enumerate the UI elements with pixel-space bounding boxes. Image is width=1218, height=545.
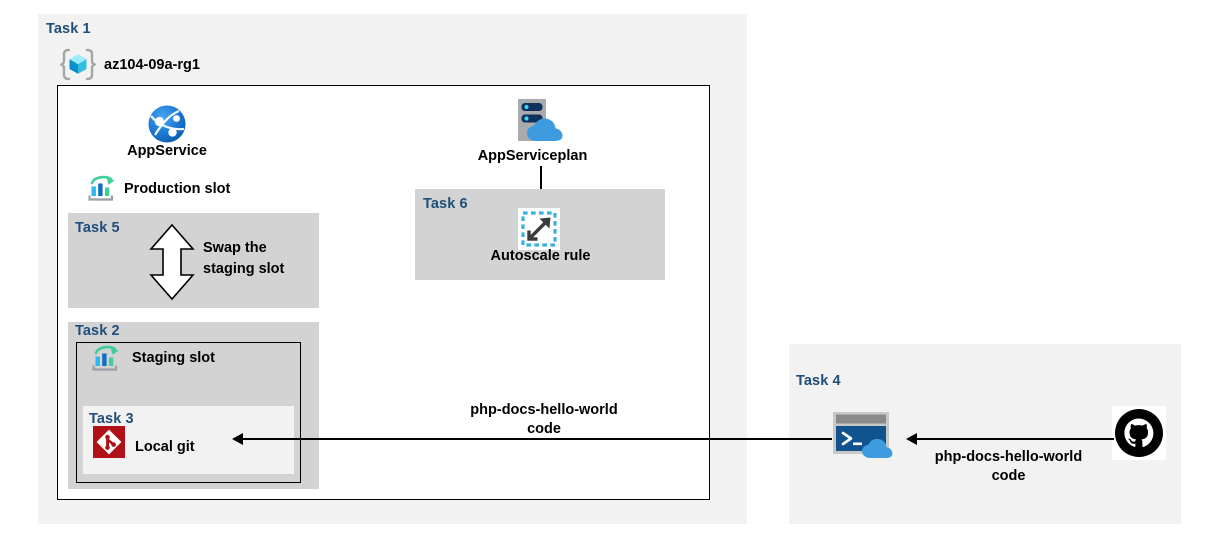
task-4-label: Task 4 [796, 373, 841, 389]
staging-slot-name: Staging slot [132, 350, 215, 368]
diagram-canvas: Task 1 az104-09a-rg1 [0, 0, 1218, 545]
production-slot-name: Production slot [124, 181, 230, 199]
task-5-action-line1: Swap the [203, 240, 267, 258]
task-3-label: Task 3 [89, 411, 134, 427]
cloud-shell-icon [832, 411, 900, 461]
app-service-plan-icon [509, 97, 569, 149]
task-2-label: Task 2 [75, 323, 120, 339]
local-git-name: Local git [135, 439, 195, 457]
task-1-label: Task 1 [46, 21, 91, 37]
task-6-label: Task 6 [423, 196, 468, 212]
app-service-plan-name: AppServiceplan [455, 148, 610, 166]
resource-group-name: az104-09a-rg1 [104, 57, 200, 75]
app-service-name: AppService [105, 143, 229, 161]
autoscale-rule-name: Autoscale rule [463, 248, 618, 266]
resource-group-icon [60, 48, 96, 82]
deployment-slot-icon [92, 345, 122, 373]
connector-cloudshell-to-localgit-arrowhead [232, 433, 243, 445]
git-icon [93, 426, 125, 458]
connector-github-to-cloudshell-line [914, 438, 1114, 440]
app-service-icon [146, 103, 188, 145]
connector-cloudshell-to-localgit-label-line1: php-docs-hello-world [440, 402, 648, 420]
double-headed-vertical-arrow-icon [147, 223, 197, 301]
connector-cloudshell-to-localgit-label-line2: code [440, 421, 648, 439]
deployment-slot-icon [88, 175, 118, 203]
connector-github-to-cloudshell-arrowhead [906, 433, 917, 445]
connector-github-to-cloudshell-label-line1: php-docs-hello-world [901, 449, 1116, 467]
github-icon [1112, 406, 1166, 460]
task-5-action-line2: staging slot [203, 261, 284, 279]
autoscale-icon [518, 208, 560, 250]
task-5-label: Task 5 [75, 220, 120, 236]
connector-github-to-cloudshell-label-line2: code [901, 468, 1116, 486]
